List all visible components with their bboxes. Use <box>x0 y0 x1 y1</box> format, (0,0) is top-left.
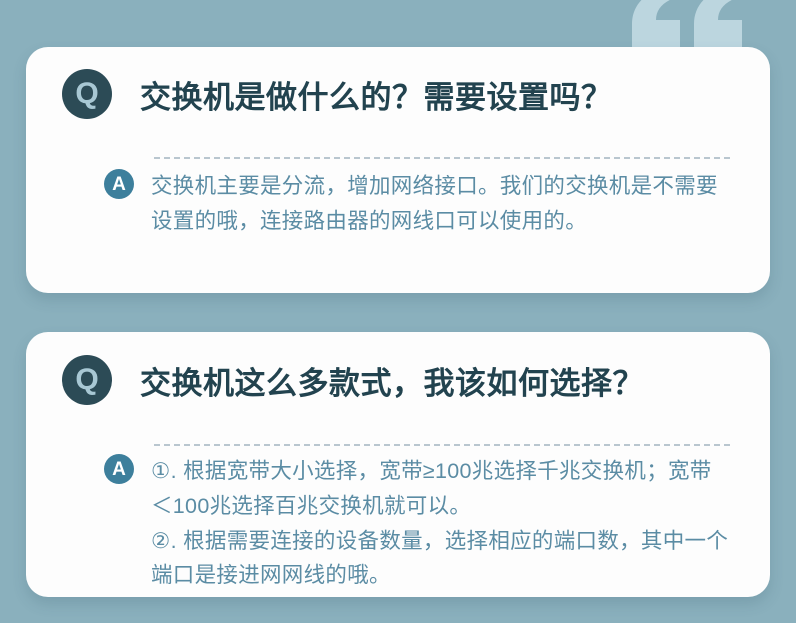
question-row-1: Q 交换机是做什么的？需要设置吗？ <box>62 69 740 119</box>
faq-page: { "page": { "background_color": "#8ab0bd… <box>0 0 796 623</box>
card-divider-2 <box>154 444 730 446</box>
question-text-1: 交换机是做什么的？需要设置吗？ <box>140 72 613 117</box>
card-divider-1 <box>154 157 730 159</box>
answer-row-2: A ①. 根据宽带大小选择，宽带≥100兆选择千兆交换机；宽带＜100兆选择百兆… <box>104 454 730 593</box>
answer-line: 交换机主要是分流，增加网络接口。我们的交换机是不需要设置的哦，连接路由器的网线口… <box>151 169 730 239</box>
question-badge-icon: Q <box>62 355 112 405</box>
answer-badge-icon: A <box>104 169 134 199</box>
answer-row-1: A 交换机主要是分流，增加网络接口。我们的交换机是不需要设置的哦，连接路由器的网… <box>104 169 730 239</box>
answer-line: ①. 根据宽带大小选择，宽带≥100兆选择千兆交换机；宽带＜100兆选择百兆交换… <box>151 454 730 524</box>
answer-text-2: ①. 根据宽带大小选择，宽带≥100兆选择千兆交换机；宽带＜100兆选择百兆交换… <box>151 454 730 593</box>
answer-text-1: 交换机主要是分流，增加网络接口。我们的交换机是不需要设置的哦，连接路由器的网线口… <box>151 169 730 239</box>
question-row-2: Q 交换机这么多款式，我该如何选择？ <box>62 355 740 405</box>
answer-line: ②. 根据需要连接的设备数量，选择相应的端口数，其中一个端口是接进网网线的哦。 <box>151 524 730 594</box>
faq-card-2: Q 交换机这么多款式，我该如何选择？ A ①. 根据宽带大小选择，宽带≥100兆… <box>26 332 770 597</box>
question-badge-icon: Q <box>62 69 112 119</box>
question-text-2: 交换机这么多款式，我该如何选择？ <box>140 358 644 403</box>
faq-card-1: Q 交换机是做什么的？需要设置吗？ A 交换机主要是分流，增加网络接口。我们的交… <box>26 47 770 293</box>
answer-badge-icon: A <box>104 454 134 484</box>
